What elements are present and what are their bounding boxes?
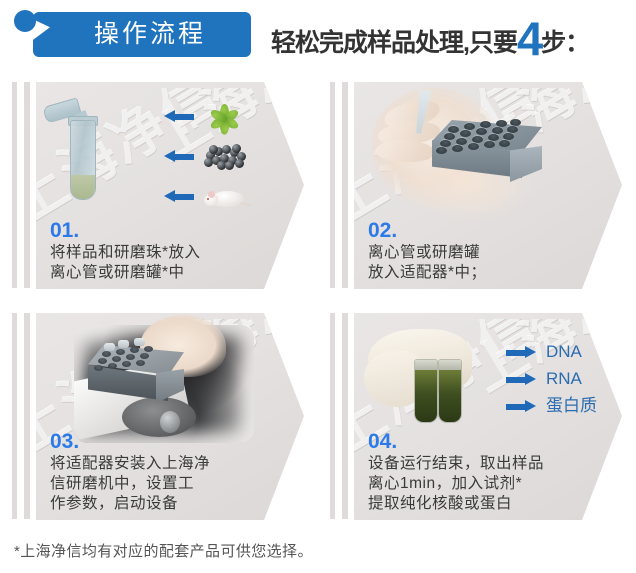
machine-knob	[160, 411, 180, 433]
step-text-line: 离心管或研磨罐	[368, 243, 608, 263]
step-card-04: 上海净信 上海净信 DNA	[318, 301, 636, 532]
stripe-decoration	[24, 82, 30, 288]
output-row: 蛋白质	[506, 395, 622, 422]
block-side-face	[156, 369, 184, 403]
tube-body	[70, 120, 96, 200]
step-panel-04: 上海净信 上海净信 DNA	[354, 313, 622, 520]
output-row: DNA	[506, 341, 622, 368]
page-header: 操作流程 轻松完成样品处理,只要 4 步：	[0, 0, 636, 70]
page-title: 轻松完成样品处理,只要 4 步：	[271, 13, 589, 65]
arrow-left-icon	[164, 150, 194, 163]
adapter-block-icon	[88, 345, 184, 403]
mouse-icon	[204, 186, 248, 210]
header-dot-decoration	[14, 10, 36, 32]
adapter-block-icon	[432, 120, 542, 180]
step-panel-01: 上海净信 上海净信	[36, 82, 304, 289]
leaf-icon	[208, 100, 240, 130]
microcentrifuge-tube-icon	[62, 102, 104, 198]
sample-vial-icon	[414, 359, 438, 423]
block-side-face	[510, 146, 542, 182]
step-number: 04.	[368, 431, 608, 453]
output-label: 蛋白质	[546, 395, 597, 417]
step-number: 01.	[50, 220, 290, 242]
arrow-right-icon	[506, 373, 536, 386]
step-number: 02.	[368, 220, 608, 242]
tube-contents	[71, 175, 95, 199]
step-card-01: 上海净信 上海净信	[0, 70, 318, 301]
headline-prefix: 轻松完成样品处理,只要	[271, 21, 517, 65]
step-panel-03: 上海净信 上海净信	[36, 313, 304, 520]
stripe-decoration	[330, 313, 335, 519]
infographic-page: 操作流程 轻松完成样品处理,只要 4 步： 上海净信 上海净信	[0, 0, 636, 573]
stripe-decoration	[342, 82, 348, 288]
step-caption-02: 02. 离心管或研磨罐 放入适配器*中；	[368, 220, 608, 283]
step-text-line: 将适配器安装入上海净	[50, 454, 290, 474]
step-panel-02: 上海净信 上海净信	[354, 82, 622, 289]
output-label: RNA	[546, 368, 582, 390]
stripe-decoration	[24, 313, 30, 519]
stripe-decoration	[330, 82, 335, 288]
step-caption-04: 04. 设备运行结束，取出样品 离心1min，加入试剂* 提取纯化核酸或蛋白	[368, 431, 608, 514]
steps-grid: 上海净信 上海净信	[0, 70, 636, 532]
arrow-left-icon	[164, 110, 194, 123]
footer-note: *上海净信均有对应的配套产品可供您选择。	[14, 540, 614, 561]
step-caption-03: 03. 将适配器安装入上海净 信研磨机中，设置工 作参数，启动设备	[50, 431, 290, 514]
step-text-line: 作参数，启动设备	[50, 494, 290, 514]
section-banner: 操作流程	[33, 12, 251, 57]
step-card-02: 上海净信 上海净信	[318, 70, 636, 301]
step-number: 03.	[50, 431, 290, 453]
arrow-right-icon	[506, 346, 536, 359]
step-text-line: 将样品和研磨珠*放入	[50, 243, 290, 263]
headline-suffix: 步：	[541, 21, 589, 65]
step-text-line: 放入适配器*中；	[368, 263, 608, 283]
headline-step-count: 4	[517, 17, 541, 61]
sample-vial-icon	[438, 359, 462, 423]
output-list: DNA RNA 蛋白质	[506, 341, 622, 422]
grinding-beads-icon	[204, 144, 246, 168]
stripe-decoration	[12, 82, 17, 288]
step-text-line: 离心管或研磨罐*中	[50, 263, 290, 283]
arrow-left-icon	[164, 190, 194, 203]
step-text-line: 设备运行结束，取出样品	[368, 454, 608, 474]
step-caption-01: 01. 将样品和研磨珠*放入 离心管或研磨罐*中	[50, 220, 290, 283]
step-text-line: 提取纯化核酸或蛋白	[368, 494, 608, 514]
output-label: DNA	[546, 341, 582, 363]
step-card-03: 上海净信 上海净信	[0, 301, 318, 532]
section-banner-label: 操作流程	[78, 22, 206, 47]
step-text-line: 离心1min，加入试剂*	[368, 474, 608, 494]
output-row: RNA	[506, 368, 622, 395]
arrow-right-icon	[506, 400, 536, 413]
stripe-decoration	[12, 313, 17, 519]
stripe-decoration	[342, 313, 348, 519]
step-text-line: 信研磨机中，设置工	[50, 474, 290, 494]
